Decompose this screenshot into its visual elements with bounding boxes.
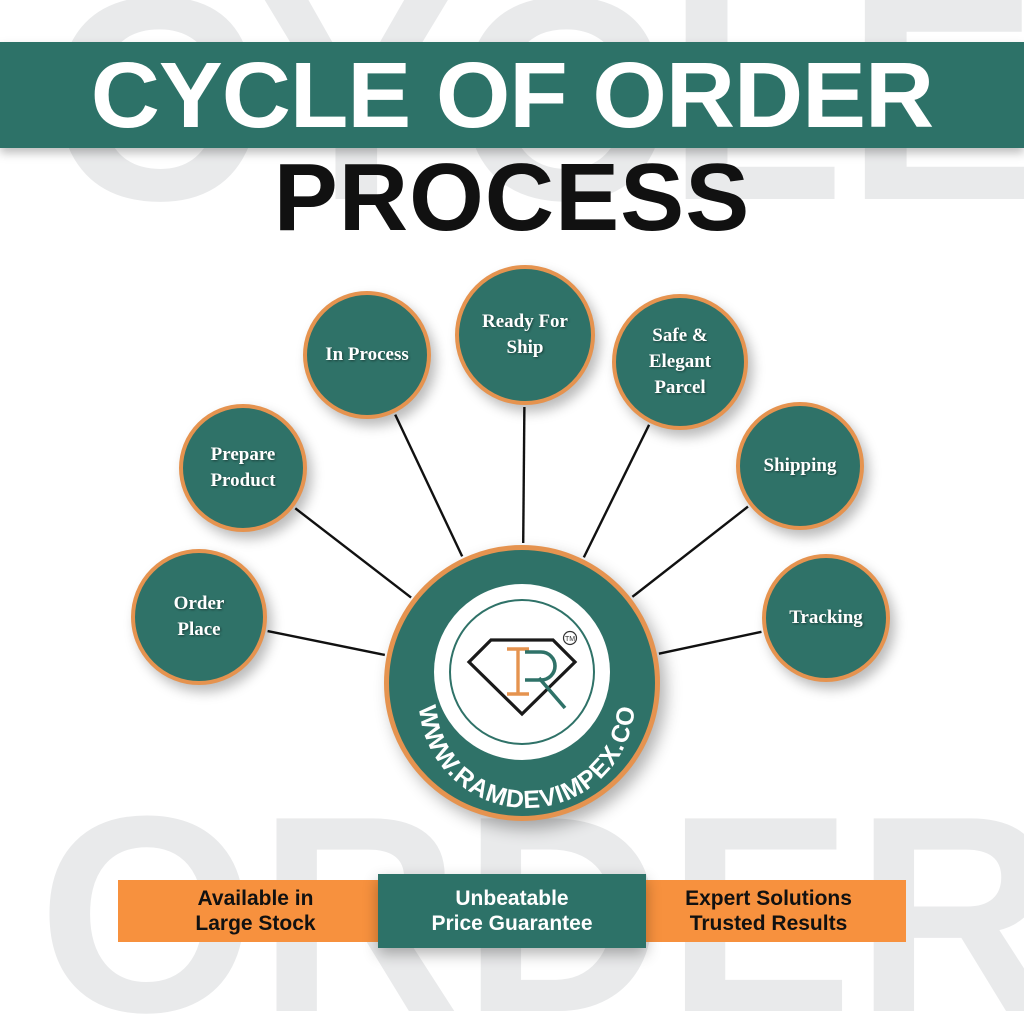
process-node-order-place[interactable]: OrderPlace [131, 549, 267, 685]
node-label-line: Prepare [210, 442, 275, 468]
node-label-line: Tracking [789, 605, 863, 631]
connector-line-tracking [659, 632, 762, 654]
process-node-tracking[interactable]: Tracking [762, 554, 890, 682]
feature-line: Trusted Results [690, 911, 848, 936]
process-diagram: OrderPlacePrepareProductIn ProcessReady … [0, 0, 1024, 1024]
process-node-label: Shipping [758, 453, 843, 479]
node-label-line: Parcel [622, 375, 738, 401]
node-label-line: Shipping [764, 453, 837, 479]
feature-line: Available in [198, 886, 314, 911]
feature-panel-available-stock[interactable]: Available in Large Stock [118, 880, 393, 942]
feature-line: Expert Solutions [685, 886, 852, 911]
feature-bar: Available in Large Stock Unbeatable Pric… [118, 880, 906, 942]
process-node-shipping[interactable]: Shipping [736, 402, 864, 530]
process-node-label: OrderPlace [168, 591, 231, 643]
feature-panel-price-guarantee[interactable]: Unbeatable Price Guarantee [378, 874, 646, 948]
node-label-line: Ship [482, 335, 568, 361]
connector-line-order-place [268, 631, 385, 655]
diamond-logo-icon: TM [457, 622, 587, 722]
process-node-label: PrepareProduct [204, 442, 281, 494]
node-label-line: Safe & Elegant [622, 323, 738, 375]
feature-line: Unbeatable [455, 886, 568, 911]
node-label-line: Ready For [482, 309, 568, 335]
process-node-label: Ready ForShip [476, 309, 574, 361]
feature-line: Large Stock [195, 911, 315, 936]
node-label-line: In Process [325, 342, 409, 368]
feature-panel-expert-solutions[interactable]: Expert Solutions Trusted Results [631, 880, 906, 942]
process-node-safe-elegant-parcel[interactable]: Safe & ElegantParcel [612, 294, 748, 430]
connector-lines [0, 0, 1024, 1024]
node-label-line: Order [174, 591, 225, 617]
process-node-label: Tracking [783, 605, 869, 631]
node-label-line: Place [174, 617, 225, 643]
process-node-ready-for-ship[interactable]: Ready ForShip [455, 265, 595, 405]
node-label-line: Product [210, 468, 275, 494]
connector-line-ready-for-ship [523, 407, 524, 543]
process-node-label: In Process [319, 342, 415, 368]
feature-line: Price Guarantee [431, 911, 592, 936]
poster-canvas: CYCLE ORDER CYCLE OF ORDER PROCESS Order… [0, 0, 1024, 1024]
hub-inner-disc: TM [434, 584, 610, 760]
process-node-prepare-product[interactable]: PrepareProduct [179, 404, 307, 532]
connector-line-in-process [395, 415, 462, 557]
connector-line-safe-elegant-parcel [584, 425, 649, 558]
process-node-in-process[interactable]: In Process [303, 291, 431, 419]
trademark-icon: TM [565, 636, 575, 643]
center-logo-hub[interactable]: WWW.RAMDEVIMPEX.CO [384, 545, 660, 821]
process-node-label: Safe & ElegantParcel [616, 323, 744, 402]
